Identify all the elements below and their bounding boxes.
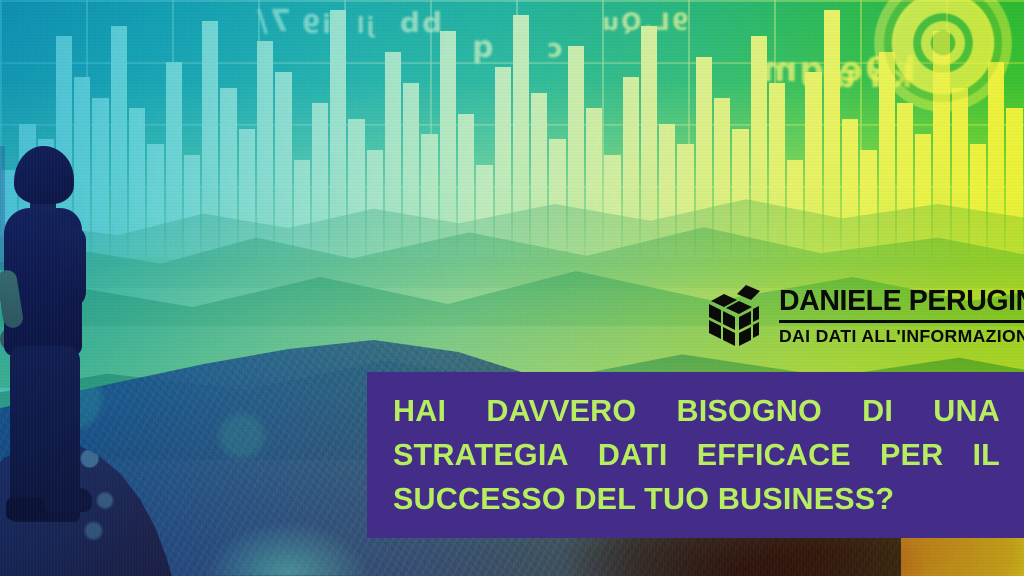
headline-word: DI bbox=[862, 389, 893, 433]
headline-word: HAI bbox=[393, 389, 446, 433]
headline-line: STRATEGIADATIEFFICACEPERIL bbox=[393, 433, 1000, 477]
headline-word: UNA bbox=[933, 389, 1000, 433]
headline-word: DAVVERO bbox=[486, 389, 636, 433]
headline-line: HAIDAVVEROBISOGNODIUNA bbox=[393, 389, 1000, 433]
banner-canvas: 7/i9jlbbqc9L.Qul 9e gmka ul bbox=[0, 0, 1024, 576]
headline-word: STRATEGIA bbox=[393, 433, 569, 477]
isometric-cube-icon bbox=[703, 283, 765, 351]
logo-wordmark: DANIELE PERUGINI DAI DATI ALL'INFORMAZIO… bbox=[779, 287, 1024, 347]
headline-line: SUCCESSO DEL TUO BUSINESS? bbox=[393, 477, 1000, 521]
headline-word: DATI bbox=[598, 433, 668, 477]
brand-logo[interactable]: DANIELE PERUGINI DAI DATI ALL'INFORMAZIO… bbox=[703, 283, 1024, 351]
headline-word: IL bbox=[972, 433, 1000, 477]
logo-name: DANIELE PERUGINI bbox=[779, 287, 1024, 316]
logo-tagline: DAI DATI ALL'INFORMAZIONE bbox=[779, 326, 1024, 347]
headline-banner: HAIDAVVEROBISOGNODIUNASTRATEGIADATIEFFIC… bbox=[367, 372, 1024, 538]
headline-text: HAIDAVVEROBISOGNODIUNASTRATEGIADATIEFFIC… bbox=[393, 389, 1000, 521]
headline-word: PER bbox=[880, 433, 943, 477]
logo-divider bbox=[779, 320, 1024, 323]
headline-word: BISOGNO bbox=[677, 389, 822, 433]
headline-word: EFFICACE bbox=[697, 433, 851, 477]
